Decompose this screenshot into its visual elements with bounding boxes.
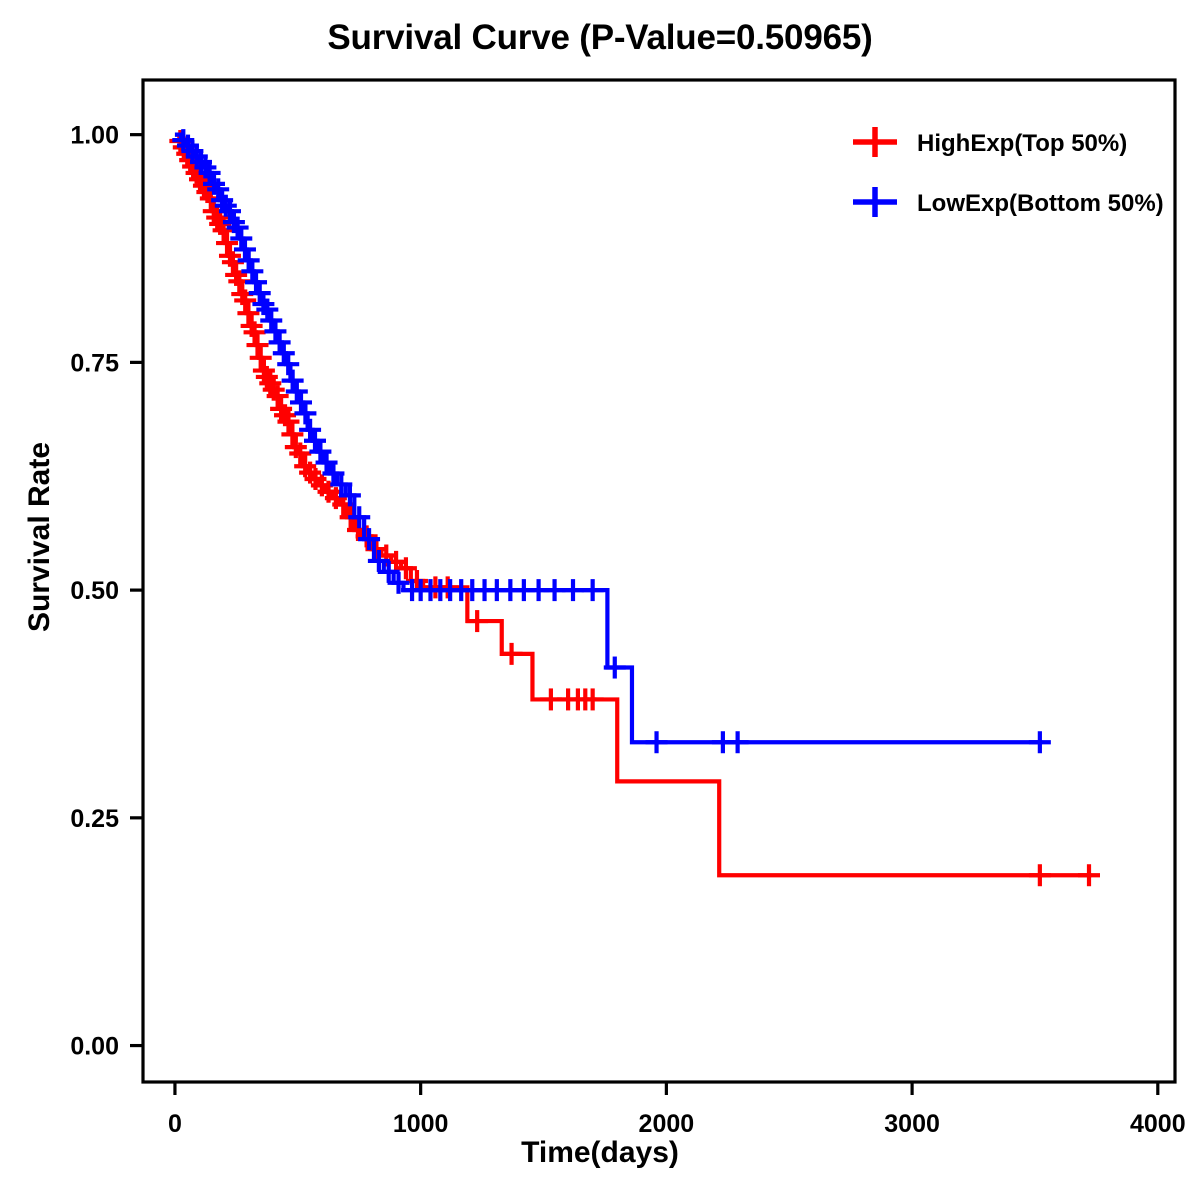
censor-plus-marker bbox=[582, 579, 604, 601]
censor-plus-marker bbox=[238, 249, 260, 271]
censor-plus-marker bbox=[282, 370, 304, 392]
censor-plus-marker bbox=[286, 381, 308, 403]
censor-plus-marker bbox=[562, 579, 584, 601]
step-line bbox=[175, 135, 1042, 743]
y-tick-label: 0.00 bbox=[70, 1033, 119, 1061]
censor-plus-marker bbox=[264, 320, 286, 342]
x-tick-label: 4000 bbox=[1130, 1110, 1186, 1138]
censor-plus-marker bbox=[727, 731, 749, 753]
plus-marker-icon bbox=[853, 127, 897, 157]
chart-legend: HighExp(Top 50%)LowExp(Bottom 50%) bbox=[853, 127, 1164, 217]
censor-plus-marker bbox=[1029, 864, 1051, 886]
censor-plus-marker bbox=[466, 610, 488, 632]
censor-plus-marker bbox=[245, 271, 267, 293]
x-tick-label: 0 bbox=[168, 1110, 182, 1138]
legend-item-lowexp[interactable]: LowExp(Bottom 50%) bbox=[853, 187, 1164, 217]
censor-plus-marker bbox=[277, 353, 299, 375]
x-tick-label: 2000 bbox=[639, 1110, 695, 1138]
censor-plus-marker bbox=[304, 430, 326, 452]
censor-plus-marker bbox=[299, 419, 321, 441]
series-lowexp bbox=[172, 129, 1051, 753]
survival-curve-figure: Survival Curve (P-Value=0.50965) Surviva… bbox=[0, 0, 1200, 1200]
x-tick-label: 1000 bbox=[393, 1110, 449, 1138]
censor-plus-marker bbox=[273, 342, 295, 364]
censor-plus-marker bbox=[1078, 864, 1100, 886]
y-tick-label: 0.50 bbox=[70, 577, 119, 605]
legend-label: LowExp(Bottom 50%) bbox=[917, 190, 1164, 217]
legend-label: HighExp(Top 50%) bbox=[917, 130, 1127, 157]
censor-plus-marker bbox=[269, 331, 291, 353]
x-tick-label: 3000 bbox=[884, 1110, 940, 1138]
y-tick-label: 0.25 bbox=[70, 805, 119, 833]
axis-frame bbox=[143, 80, 1175, 1082]
censor-plus-marker bbox=[1029, 731, 1051, 753]
x-axis-ticks: 01000200030004000 bbox=[168, 1082, 1186, 1138]
censor-plus-marker bbox=[247, 334, 269, 356]
series-layer bbox=[169, 129, 1100, 886]
plus-marker-icon bbox=[853, 187, 897, 217]
y-tick-label: 1.00 bbox=[70, 122, 119, 150]
censor-plus-marker bbox=[281, 423, 303, 445]
censor-plus-marker bbox=[241, 260, 263, 282]
legend-item-highexp[interactable]: HighExp(Top 50%) bbox=[853, 127, 1127, 157]
censor-plus-marker bbox=[290, 391, 312, 413]
censor-plus-marker bbox=[646, 731, 668, 753]
plot-area: 01000200030004000 0.000.250.500.751.00 H… bbox=[0, 0, 1200, 1200]
step-line bbox=[175, 135, 1092, 876]
censor-plus-marker bbox=[250, 347, 272, 369]
censor-plus-marker bbox=[501, 643, 523, 665]
y-tick-label: 0.75 bbox=[70, 349, 119, 377]
y-axis-ticks: 0.000.250.500.751.00 bbox=[70, 122, 143, 1061]
series-highexp bbox=[169, 130, 1100, 886]
